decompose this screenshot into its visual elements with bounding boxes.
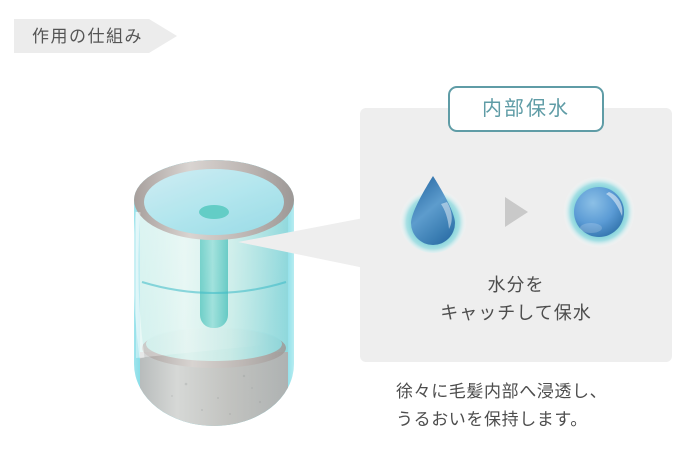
water-sphere-icon (553, 166, 645, 258)
arrow-right-icon (499, 193, 533, 231)
bottom-description-line-2: うるおいを保持します。 (396, 406, 686, 434)
status-badge: 内部保水 (448, 86, 604, 132)
panel-caption-line-1: 水分を (360, 272, 672, 300)
bottom-description: 徐々に毛髪内部へ浸透し、 うるおいを保持します。 (396, 378, 686, 433)
icon-row (360, 158, 672, 266)
banner-body: 作用の仕組み (14, 19, 149, 53)
hair-cylinder-svg (126, 152, 302, 430)
water-drop-icon (387, 166, 479, 258)
medulla-top-cap (199, 205, 229, 219)
section-banner: 作用の仕組み (14, 19, 177, 53)
panel-caption: 水分を キャッチして保水 (360, 272, 672, 328)
badge-label: 内部保水 (482, 99, 570, 119)
page-title: 作用の仕組み (32, 28, 143, 45)
banner-arrow-tip (149, 19, 177, 53)
bottom-description-line-1: 徐々に毛髪内部へ浸透し、 (396, 378, 686, 406)
panel-caption-line-2: キャッチして保水 (360, 300, 672, 328)
hair-cross-section-illustration (126, 152, 302, 430)
